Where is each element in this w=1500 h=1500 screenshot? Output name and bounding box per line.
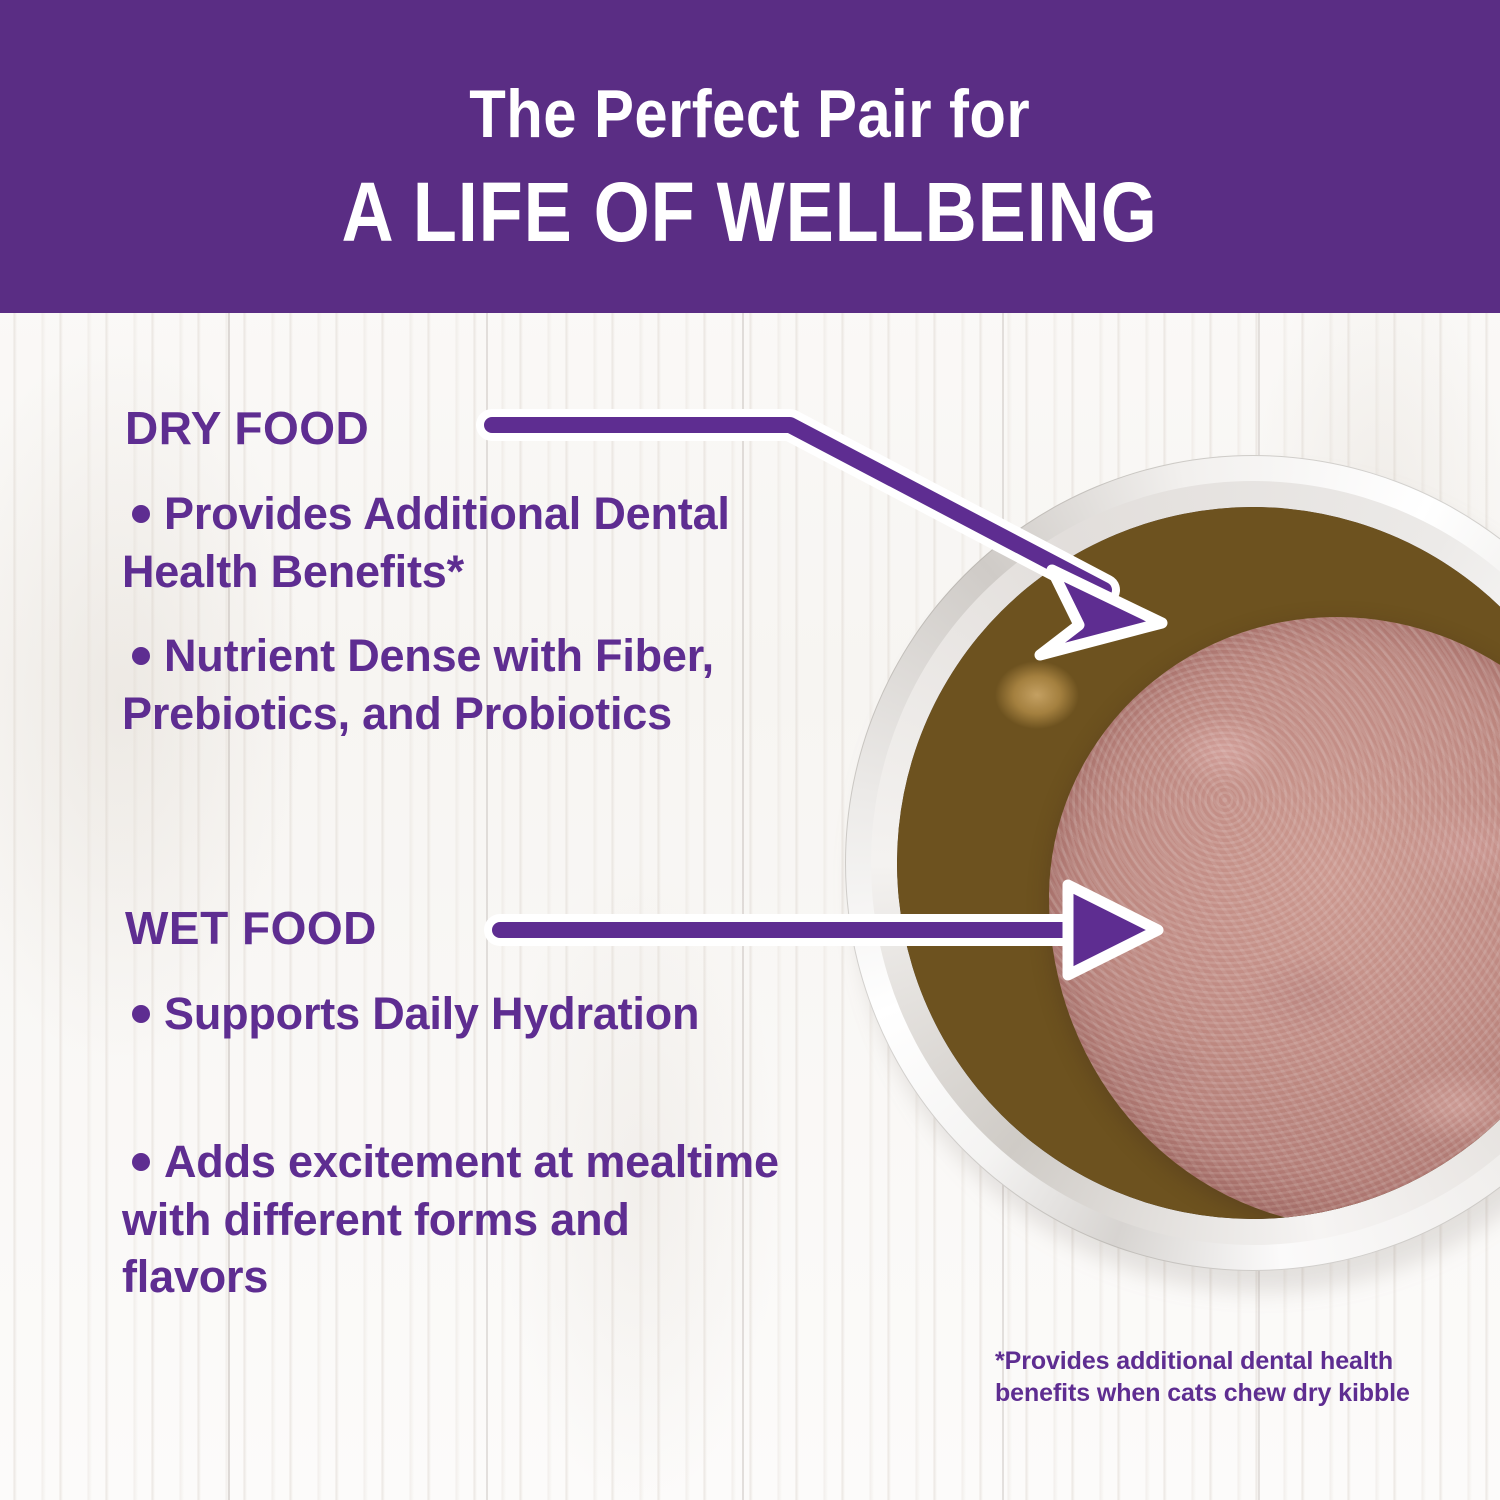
list-item-label: Adds excitement at mealtime with differe…	[122, 1136, 779, 1302]
list-item: Nutrient Dense with Fiber, Prebiotics, a…	[122, 627, 782, 742]
list-item: Supports Daily Hydration	[122, 985, 782, 1043]
footnote-disclaimer: *Provides additional dental health benef…	[995, 1345, 1425, 1409]
bullet-dot-icon	[132, 647, 150, 665]
poster-root: The Perfect Pair for A LIFE OF WELLBEING…	[0, 0, 1500, 1500]
bullet-dot-icon	[132, 1153, 150, 1171]
bullet-dot-icon	[132, 505, 150, 523]
list-item-label: Nutrient Dense with Fiber, Prebiotics, a…	[122, 630, 714, 739]
bullet-dot-icon	[132, 1005, 150, 1023]
wet-food-heading: WET FOOD	[125, 901, 377, 955]
header-title: A LIFE OF WELLBEING	[342, 168, 1158, 256]
list-item-label: Supports Daily Hydration	[164, 988, 699, 1039]
benefits-text-column: DRY FOOD Provides Additional Dental Heal…	[0, 313, 860, 1500]
dry-food-heading: DRY FOOD	[125, 401, 369, 455]
list-item: Adds excitement at mealtime with differe…	[122, 1133, 782, 1306]
list-item-label: Provides Additional Dental Health Benefi…	[122, 488, 730, 597]
header-subtitle: The Perfect Pair for	[470, 79, 1031, 150]
header-banner: The Perfect Pair for A LIFE OF WELLBEING	[0, 0, 1500, 313]
list-item: Provides Additional Dental Health Benefi…	[122, 485, 782, 600]
